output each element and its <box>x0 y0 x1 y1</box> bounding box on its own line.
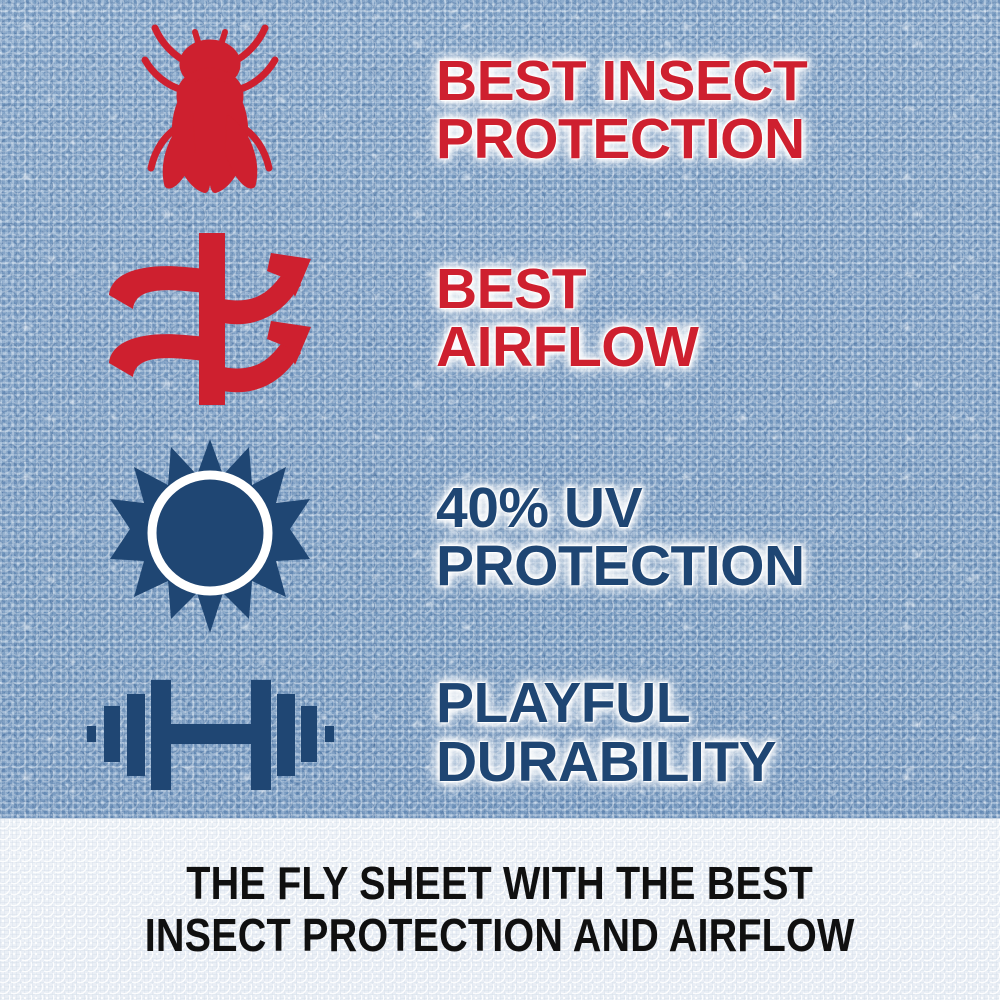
feature-row-insect-protection: BEST INSECT PROTECTION <box>0 10 1000 210</box>
feature-label-durability: PLAYFUL DURABILITY <box>436 674 1000 790</box>
feature-row-uv-protection: 40% UV PROTECTION <box>0 432 1000 642</box>
airflow-arrows-icon <box>95 223 325 413</box>
feature-text-cell: PLAYFUL DURABILITY <box>420 674 1000 790</box>
feature-icon-cell <box>0 668 420 798</box>
fly-icon <box>125 18 295 203</box>
banner-headline: THE FLY SHEET WITH THE BEST INSECT PROTE… <box>145 858 855 961</box>
product-feature-infographic: BEST INSECT PROTECTION <box>0 0 1000 1000</box>
feature-text-cell: BEST AIRFLOW <box>420 260 1000 376</box>
feature-label-uv-protection: 40% UV PROTECTION <box>436 479 1000 595</box>
feature-row-airflow: BEST AIRFLOW <box>0 218 1000 418</box>
feature-list: BEST INSECT PROTECTION <box>0 0 1000 820</box>
feature-icon-cell <box>0 437 420 637</box>
feature-text-cell: BEST INSECT PROTECTION <box>420 52 1000 168</box>
feature-label-airflow: BEST AIRFLOW <box>436 260 1000 376</box>
bottom-banner: THE FLY SHEET WITH THE BEST INSECT PROTE… <box>0 818 1000 1000</box>
dumbbell-icon <box>85 668 335 798</box>
feature-text-cell: 40% UV PROTECTION <box>420 479 1000 595</box>
feature-icon-cell <box>0 18 420 203</box>
feature-row-durability: PLAYFUL DURABILITY <box>0 645 1000 820</box>
sun-burst-icon <box>110 437 310 637</box>
feature-label-insect-protection: BEST INSECT PROTECTION <box>436 52 1000 168</box>
feature-icon-cell <box>0 223 420 413</box>
